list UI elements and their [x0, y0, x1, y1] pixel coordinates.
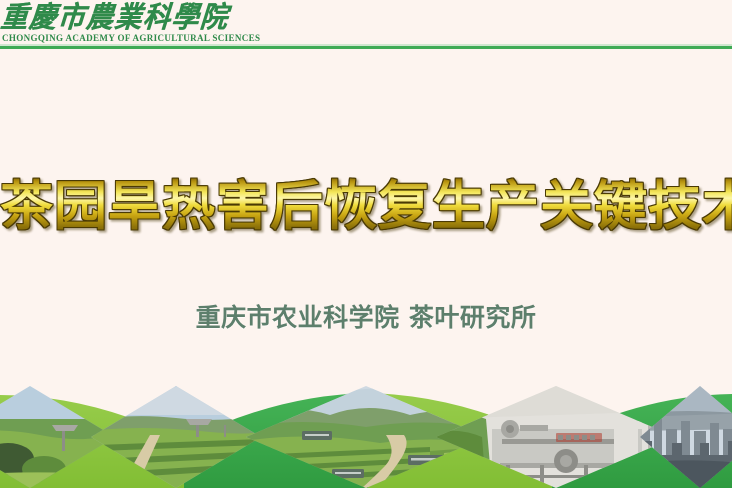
- slide-body: 茶园旱热害后恢复生产关键技术 重庆市农业科学院 茶叶研究所: [0, 49, 732, 389]
- footer-graphic: [0, 385, 732, 488]
- header-divider: [0, 46, 732, 49]
- institution-logo-calligraphy: 重慶市農業科學院: [0, 0, 250, 36]
- institution-logo: 重慶市農業科學院 CHONGQING ACADEMY OF AGRICULTUR…: [2, 0, 250, 46]
- page-title: 茶园旱热害后恢复生产关键技术: [0, 176, 732, 238]
- footer-image-band: [0, 385, 732, 488]
- slide-header: 重慶市農業科學院 CHONGQING ACADEMY OF AGRICULTUR…: [0, 0, 732, 49]
- page-subtitle: 重庆市农业科学院 茶叶研究所: [0, 302, 732, 334]
- plantation-sign-plate: [302, 431, 332, 440]
- institution-logo-english: CHONGQING ACADEMY OF AGRICULTURAL SCIENC…: [2, 33, 248, 44]
- title-slide: 重慶市農業科學院 CHONGQING ACADEMY OF AGRICULTUR…: [0, 0, 732, 488]
